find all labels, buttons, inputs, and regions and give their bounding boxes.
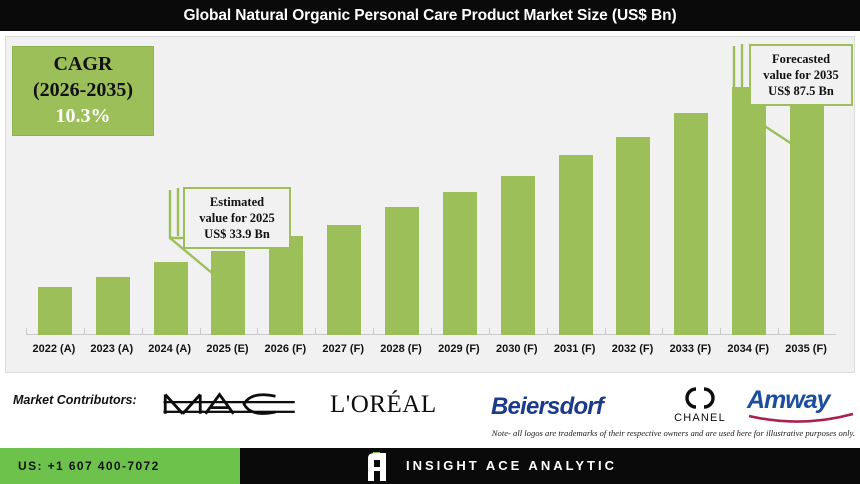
axis-tick	[489, 328, 490, 335]
forecasted-line-1: Forecasted	[772, 51, 830, 67]
infographic-root: Global Natural Organic Personal Care Pro…	[0, 0, 860, 484]
bar-slot	[662, 37, 720, 335]
cagr-callout-box: CAGR (2026-2035) 10.3%	[12, 46, 154, 136]
axis-tick	[662, 328, 663, 335]
bar	[616, 137, 650, 335]
axis-tick	[257, 328, 258, 335]
x-axis-label: 2025 (E)	[199, 338, 257, 360]
chanel-logo-text: CHANEL	[660, 412, 740, 424]
axis-tick	[142, 328, 143, 335]
x-axis-label: 2023 (A)	[83, 338, 141, 360]
axis-tick	[720, 328, 721, 335]
trademark-note: Note- all logos are trademarks of their …	[420, 428, 855, 442]
x-axis-label: 2032 (F)	[604, 338, 662, 360]
x-axis-label: 2022 (A)	[25, 338, 83, 360]
x-axis-label: 2028 (F)	[372, 338, 430, 360]
axis-tick	[431, 328, 432, 335]
bar-slot	[547, 37, 605, 335]
amway-logo-text: Amway	[747, 386, 830, 415]
estimated-line-1: Estimated	[210, 194, 264, 210]
estimated-line-2: value for 2025	[199, 210, 274, 226]
axis-tick	[315, 328, 316, 335]
mac-logo	[160, 387, 300, 423]
x-axis-label: 2026 (F)	[256, 338, 314, 360]
bar-slot	[431, 37, 489, 335]
x-axis-label: 2031 (F)	[546, 338, 604, 360]
bar-slot	[605, 37, 663, 335]
bar	[385, 207, 419, 335]
bar-slot	[489, 37, 547, 335]
bar	[443, 192, 477, 335]
x-axis-labels: 2022 (A)2023 (A)2024 (A)2025 (E)2026 (F)…	[25, 338, 835, 360]
axis-tick	[84, 328, 85, 335]
axis-tick	[373, 328, 374, 335]
x-axis-label: 2030 (F)	[488, 338, 546, 360]
x-axis-label: 2033 (F)	[661, 338, 719, 360]
chanel-mark-icon	[674, 385, 726, 411]
page-title: Global Natural Organic Personal Care Pro…	[0, 0, 860, 31]
bar	[96, 277, 130, 335]
x-axis-label: 2034 (F)	[719, 338, 777, 360]
insight-ace-logo-icon	[364, 452, 390, 481]
bar	[327, 225, 361, 335]
bar	[559, 155, 593, 335]
axis-tick	[200, 328, 201, 335]
loreal-logo: L'ORÉAL	[330, 391, 437, 419]
estimated-value-callout: Estimated value for 2025 US$ 33.9 Bn	[183, 187, 291, 249]
x-axis-label: 2035 (F)	[777, 338, 835, 360]
axis-tick	[605, 328, 606, 335]
cagr-value: 10.3%	[56, 103, 111, 130]
axis-tick	[26, 328, 27, 335]
x-axis-label: 2027 (F)	[314, 338, 372, 360]
cagr-period: (2026-2035)	[33, 77, 133, 103]
beiersdorf-logo: Beiersdorf	[491, 393, 603, 421]
chanel-logo: CHANEL	[660, 385, 740, 427]
amway-swoosh-icon	[747, 412, 857, 426]
x-axis-label: 2029 (F)	[430, 338, 488, 360]
market-contributors-label: Market Contributors:	[13, 393, 137, 407]
x-axis-label: 2024 (A)	[141, 338, 199, 360]
header-bar: Global Natural Organic Personal Care Pro…	[0, 0, 860, 31]
estimated-line-3: US$ 33.9 Bn	[204, 226, 270, 242]
footer-brand-text: INSIGHT ACE ANALYTIC	[406, 448, 617, 484]
footer-bar: US: +1 607 400-7072 INSIGHT ACE ANALYTIC	[0, 448, 860, 484]
market-contributors-row: Market Contributors: L'ORÉAL Beiersdorf …	[5, 381, 855, 428]
footer-phone: US: +1 607 400-7072	[18, 448, 160, 484]
forecasted-value-callout: Forecasted value for 2035 US$ 87.5 Bn	[749, 44, 853, 106]
amway-logo: Amway	[747, 386, 857, 426]
axis-tick	[778, 328, 779, 335]
cagr-title: CAGR	[54, 52, 113, 77]
forecasted-line-2: value for 2035	[763, 67, 838, 83]
axis-tick	[547, 328, 548, 335]
bar-slot	[315, 37, 373, 335]
bar-slot	[373, 37, 431, 335]
bar	[501, 176, 535, 335]
bar	[38, 287, 72, 335]
forecasted-line-3: US$ 87.5 Bn	[768, 83, 834, 99]
bar	[674, 113, 708, 335]
